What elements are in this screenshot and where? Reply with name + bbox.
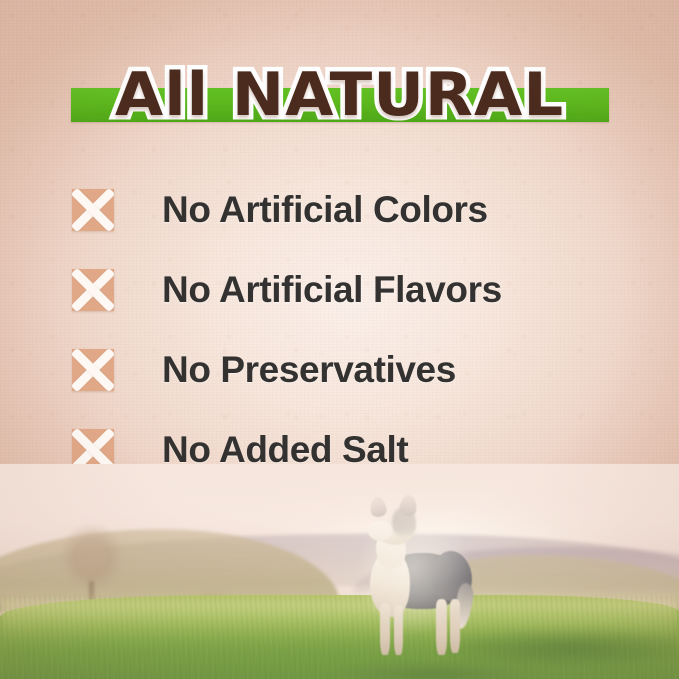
claim-label: No Artificial Flavors	[162, 269, 502, 311]
list-item: No Artificial Colors	[0, 170, 679, 250]
page-title: All NATURAL	[0, 52, 679, 138]
header-banner: All NATURAL	[0, 52, 679, 138]
dog-muzzle	[368, 521, 392, 541]
x-mark-icon	[72, 189, 114, 231]
dog-hind-leg-near	[450, 599, 460, 653]
list-item: No Artificial Flavors	[0, 250, 679, 330]
claim-label: No Preservatives	[162, 349, 456, 391]
x-mark-icon	[72, 349, 114, 391]
dog-hind-leg-far	[436, 599, 447, 655]
claim-label: No Artificial Colors	[162, 189, 488, 231]
dog-front-leg-far	[380, 603, 390, 655]
lifestyle-photo	[0, 464, 679, 679]
claims-list: No Artificial Colors No Artificial Flavo…	[0, 170, 679, 490]
dog-front-leg-near	[394, 605, 403, 655]
dog	[352, 499, 482, 661]
product-feature-poster: All NATURAL No Artificial Colors No Arti…	[0, 0, 679, 679]
list-item: No Preservatives	[0, 330, 679, 410]
x-mark-icon	[72, 269, 114, 311]
